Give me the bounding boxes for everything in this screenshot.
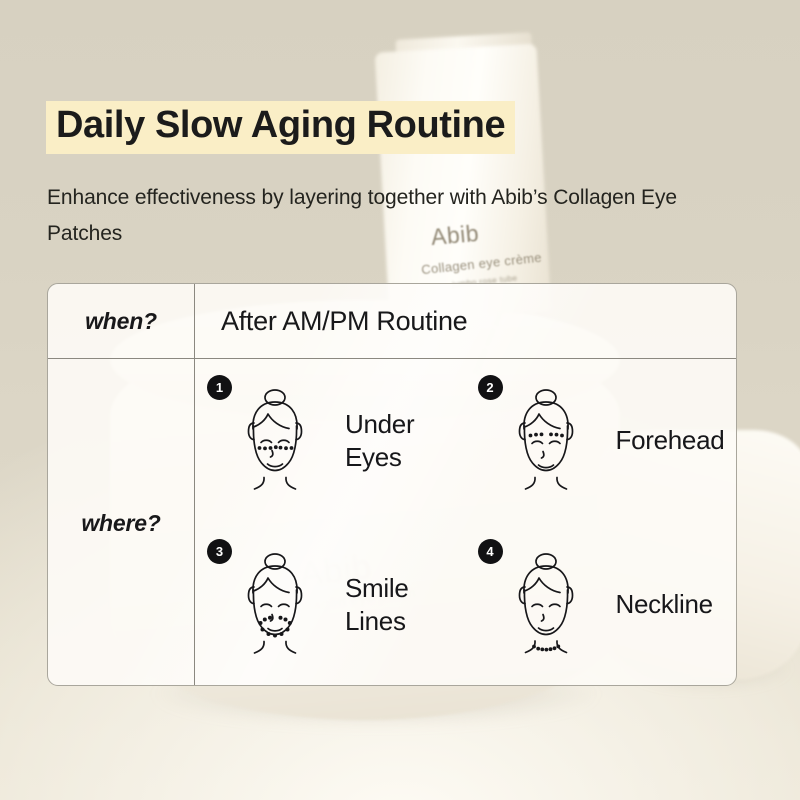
face-forehead-icon [494,385,598,497]
zone-item-forehead: 2 [466,359,737,523]
infographic-root: Abib Collagen eye patch jumbo rose patch… [0,0,800,800]
zone-item-smile-lines: 3 [195,523,466,686]
page-title: Daily Slow Aging Routine [46,101,515,154]
when-label: when? [85,308,157,335]
routine-table: when? After AM/PM Routine where? 1 [47,283,737,686]
table-row-where: where? 1 [48,359,736,686]
face-under-eyes-icon [223,385,327,497]
face-neckline-icon [494,549,598,661]
where-label: where? [81,510,160,537]
table-row-when: when? After AM/PM Routine [48,284,736,359]
zone-badge-1: 1 [207,375,232,400]
zone-badge-4: 4 [478,539,503,564]
when-value-cell: After AM/PM Routine [195,284,736,358]
where-label-cell: where? [48,359,195,686]
application-zone-grid: 1 [195,359,736,686]
zone-item-neckline: 4 [466,523,737,686]
face-smile-lines-icon [223,549,327,661]
zone-item-under-eyes: 1 [195,359,466,523]
zone-badge-3: 3 [207,539,232,564]
when-value: After AM/PM Routine [195,306,467,337]
zone-label-1: UnderEyes [345,408,414,475]
page-subtitle: Enhance effectiveness by layering togeth… [47,180,687,252]
zone-badge-2: 2 [478,375,503,400]
zone-label-2: Forehead [616,424,725,457]
zone-label-4: Neckline [616,588,713,621]
zone-label-3: SmileLines [345,572,409,639]
when-label-cell: when? [48,284,195,358]
where-value-cell: 1 [195,359,736,686]
title-highlight: Daily Slow Aging Routine [46,101,515,154]
title-text: Daily Slow Aging Routine [56,105,505,146]
